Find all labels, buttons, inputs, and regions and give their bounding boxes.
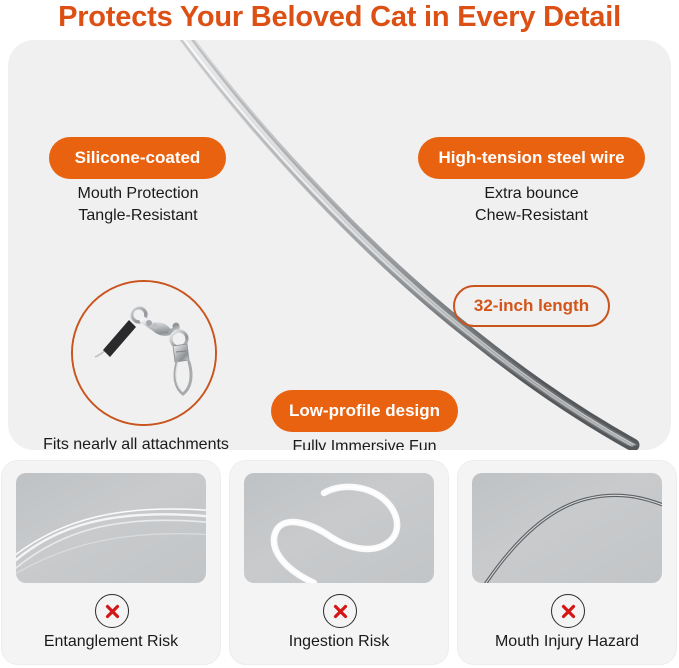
feature-silicone-description: Mouth Protection Tangle-Resistant xyxy=(48,183,228,227)
warning-card-ingestion: Ingestion Risk xyxy=(230,461,448,664)
badge-high-tension-steel-wire: High-tension steel wire xyxy=(418,137,645,179)
x-mark-icon xyxy=(95,594,129,628)
bare-metal-wire-photo xyxy=(472,473,662,583)
warning-cards-row: Entanglement Risk Ingestion Risk xyxy=(0,461,679,668)
white-cord-loop-photo xyxy=(244,473,434,583)
feature-line-2: Tangle-Resistant xyxy=(48,205,228,227)
warning-card-label: Ingestion Risk xyxy=(230,633,448,651)
feature-lowprofile-description: Fully Immersive Fun xyxy=(270,436,459,450)
feature-line-1: Extra bounce xyxy=(417,183,646,205)
x-mark-icon xyxy=(323,594,357,628)
feature-line-2: Chew-Resistant xyxy=(417,205,646,227)
badge-silicone-coated: Silicone-coated xyxy=(49,137,226,179)
warning-card-label: Mouth Injury Hazard xyxy=(458,633,676,651)
attachment-circle-inset xyxy=(71,280,217,426)
badge-32-inch-length: 32-inch length xyxy=(453,285,610,327)
feature-steel-description: Extra bounce Chew-Resistant xyxy=(417,183,646,227)
badge-low-profile-design: Low-profile design xyxy=(271,390,458,432)
page-title: Protects Your Beloved Cat in Every Detai… xyxy=(0,0,679,35)
hero-panel: Silicone-coated Mouth Protection Tangle-… xyxy=(8,40,671,450)
warning-card-label: Entanglement Risk xyxy=(2,633,220,651)
infographic-page: Protects Your Beloved Cat in Every Detai… xyxy=(0,0,679,668)
tangled-thin-strings-photo xyxy=(16,473,206,583)
warning-card-entanglement: Entanglement Risk xyxy=(2,461,220,664)
badge-label: Low-profile design xyxy=(289,401,440,421)
badge-label: Silicone-coated xyxy=(75,148,201,168)
feature-line-1: Fully Immersive Fun xyxy=(270,436,459,450)
feature-line-1: Mouth Protection xyxy=(48,183,228,205)
x-mark-icon xyxy=(551,594,585,628)
badge-label: High-tension steel wire xyxy=(438,148,624,168)
warning-card-mouth-injury: Mouth Injury Hazard xyxy=(458,461,676,664)
swivel-clip-attachment-photo xyxy=(73,282,215,424)
badge-label: 32-inch length xyxy=(474,296,589,316)
attachment-caption: Fits nearly all attachments xyxy=(8,436,264,450)
